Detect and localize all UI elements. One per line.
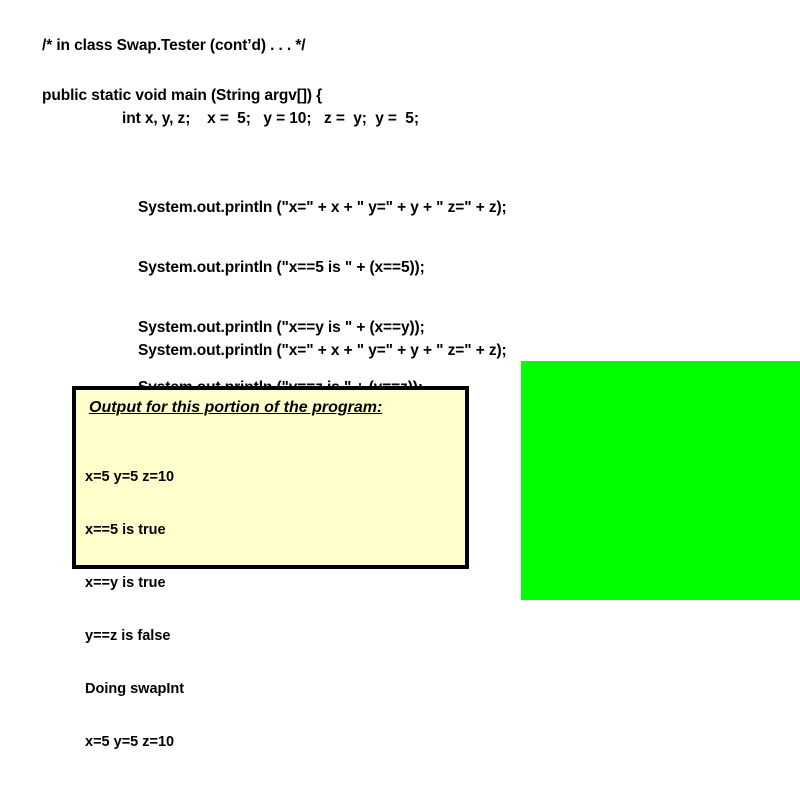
code-statement: System.out.println ("x=" + x + " y=" + y… xyxy=(138,339,507,363)
output-heading: Output for this portion of the program: xyxy=(89,399,382,417)
code-method-signature: public static void main (String argv[]) … xyxy=(42,87,322,105)
output-line: x==5 is true xyxy=(85,520,184,541)
output-line: Doing swapInt xyxy=(85,679,184,700)
output-line: x=5 y=5 z=10 xyxy=(85,732,184,753)
code-statement: System.out.println ("x==5 is " + (x==5))… xyxy=(138,256,507,280)
output-callout-box: Output for this portion of the program: … xyxy=(72,386,469,569)
output-line: x=5 y=5 z=10 xyxy=(85,467,184,488)
code-variable-declaration: int x, y, z; x = 5; y = 10; z = y; y = 5… xyxy=(122,110,419,128)
output-console-lines: x=5 y=5 z=10 x==5 is true x==y is true y… xyxy=(85,435,184,785)
code-statement: System.out.println ("x=" + x + " y=" + y… xyxy=(138,196,507,220)
code-comment-line: /* in class Swap.Tester (cont’d) . . . *… xyxy=(42,37,306,55)
green-rectangle xyxy=(521,361,800,600)
output-line: x==y is true xyxy=(85,573,184,594)
output-line: y==z is false xyxy=(85,626,184,647)
